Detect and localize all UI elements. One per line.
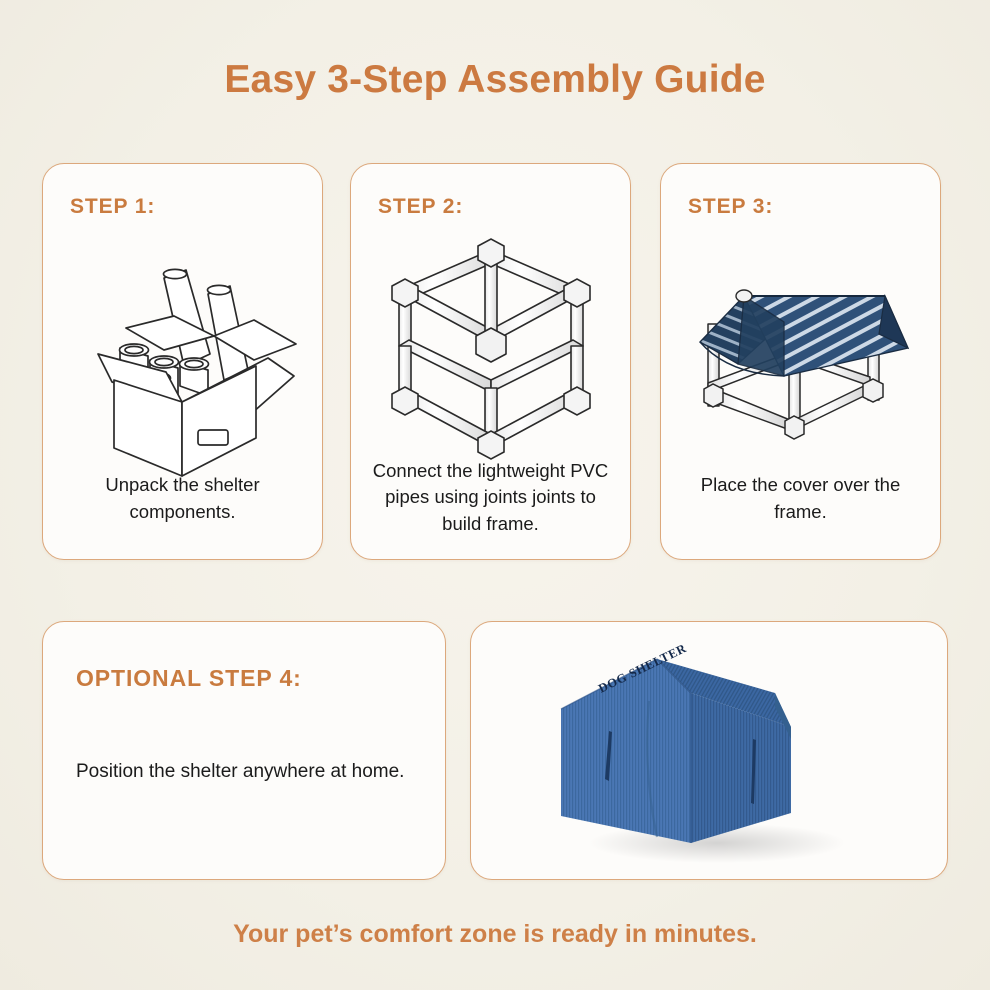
optional-step-body: Position the shelter anywhere at home. bbox=[76, 758, 404, 786]
step-2-caption: Connect the lightweight PVC pipes using … bbox=[363, 458, 618, 537]
blue-fabric-dog-shelter-photo: DOG SHELTER bbox=[471, 622, 947, 879]
step-card-2: STEP 2: bbox=[350, 163, 631, 560]
open-cardboard-box-with-pvc-pipes-icon bbox=[43, 224, 322, 514]
optional-step-label: OPTIONAL STEP 4: bbox=[76, 665, 302, 692]
page-title: Easy 3-Step Assembly Guide bbox=[0, 58, 990, 102]
step-card-3: STEP 3: bbox=[660, 163, 941, 560]
step-1-label: STEP 1: bbox=[70, 195, 155, 219]
optional-step-card: OPTIONAL STEP 4: Position the shelter an… bbox=[42, 621, 446, 880]
step-card-1: STEP 1: bbox=[42, 163, 323, 560]
infographic-page: Easy 3-Step Assembly Guide STEP 1: bbox=[0, 0, 990, 990]
step-3-label: STEP 3: bbox=[688, 195, 773, 219]
step-3-caption: Place the cover over the frame. bbox=[673, 472, 928, 525]
footer-tagline: Your pet’s comfort zone is ready in minu… bbox=[0, 920, 990, 949]
frame-with-striped-roof-cover-icon bbox=[661, 224, 940, 514]
product-photo-card: DOG SHELTER bbox=[470, 621, 948, 880]
step-1-caption: Unpack the shelter components. bbox=[55, 472, 310, 525]
step-2-label: STEP 2: bbox=[378, 195, 463, 219]
